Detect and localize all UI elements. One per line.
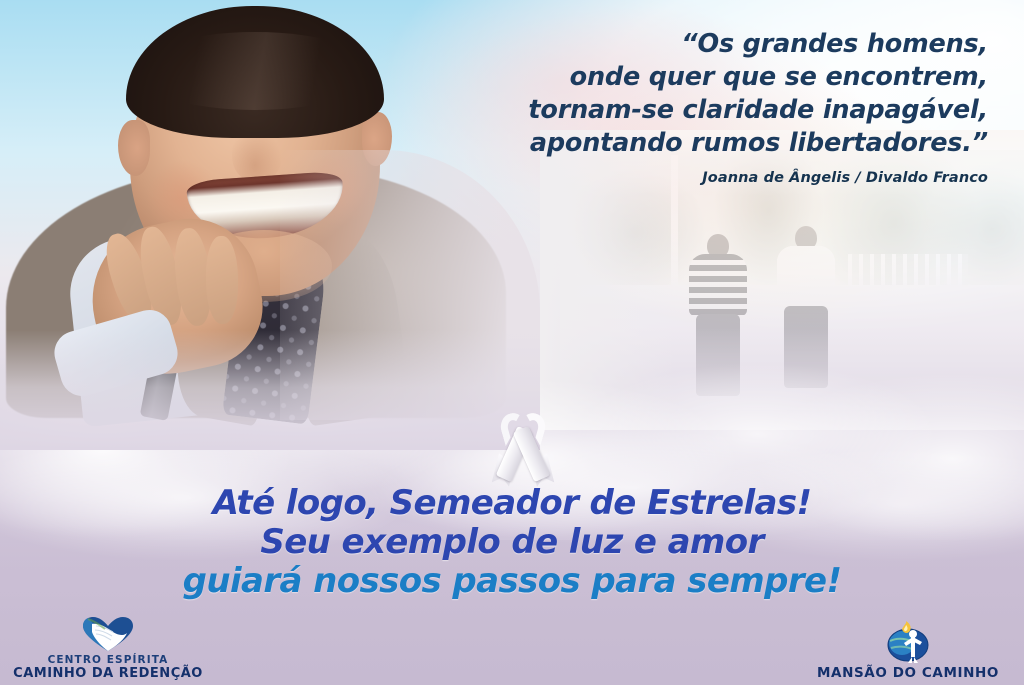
- logo-left-line-2: CAMINHO DA REDENÇÃO: [8, 666, 208, 681]
- headline-line-1: Até logo, Semeador de Estrelas!: [0, 484, 1024, 523]
- portrait-ear-left: [118, 120, 150, 176]
- headline-line-2: Seu exemplo de luz e amor: [0, 523, 1024, 562]
- poster-canvas: “Os grandes homens, onde quer que se enc…: [0, 0, 1024, 685]
- hands-heart-icon: [80, 616, 136, 652]
- quote-line-4: apontando rumos libertadores.”: [368, 127, 988, 160]
- portrait-finger: [205, 236, 239, 325]
- quote-line-2: onde quer que se encontrem,: [368, 61, 988, 94]
- logo-centro-espirita: CENTRO ESPÍRITA CAMINHO DA REDENÇÃO: [8, 616, 208, 681]
- quote-line-3: tornam-se claridade inapagável,: [368, 94, 988, 127]
- portrait-hair: [126, 6, 384, 138]
- white-mourning-ribbon-icon: [489, 413, 557, 485]
- headline-block: Até logo, Semeador de Estrelas! Seu exem…: [0, 484, 1024, 601]
- logo-right-line-2: MANSÃO DO CAMINHO: [800, 665, 1016, 681]
- logo-left-line-1: CENTRO ESPÍRITA: [8, 654, 208, 666]
- quote-line-1: “Os grandes homens,: [368, 28, 988, 61]
- globe-figure-flame-icon: [884, 621, 932, 663]
- portrait-bottom-fade: [0, 330, 540, 450]
- quote-attribution: Joanna de Ângelis / Divaldo Franco: [368, 170, 988, 186]
- logo-mansao-do-caminho: MANSÃO DO CAMINHO: [800, 621, 1016, 681]
- headline-line-3: guiará nossos passos para sempre!: [0, 562, 1024, 601]
- quote-text: “Os grandes homens, onde quer que se enc…: [368, 28, 988, 160]
